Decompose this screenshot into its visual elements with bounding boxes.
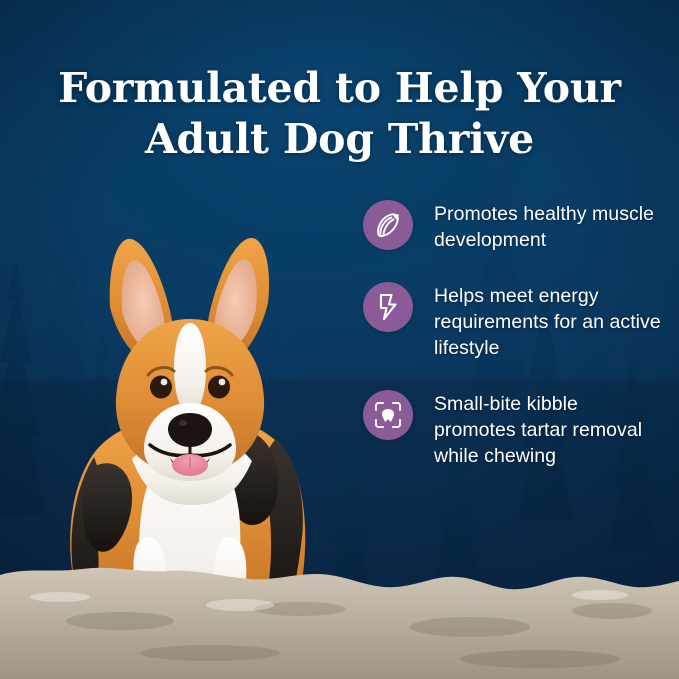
page-title-line-2: Adult Dog Thrive [34, 114, 645, 165]
benefit-text: Small-bite kibble promotes tartar remova… [434, 390, 663, 469]
page-title-line-1: Formulated to Help Your [58, 64, 621, 112]
benefit-text: Promotes healthy muscle development [434, 200, 663, 253]
benefit-icon-badge [363, 282, 413, 332]
benefit-icon-badge [363, 390, 413, 440]
benefit-text: Helps meet energy requirements for an ac… [434, 282, 663, 361]
benefit-item-kibble: Small-bite kibble promotes tartar remova… [363, 390, 663, 469]
lightning-bolt-icon [373, 292, 403, 322]
benefit-item-muscle: Promotes healthy muscle development [363, 200, 663, 253]
rocky-ground [0, 549, 679, 679]
benefits-list: Promotes healthy muscle development Help… [363, 200, 663, 469]
benefit-icon-badge [363, 200, 413, 250]
benefit-item-energy: Helps meet energy requirements for an ac… [363, 282, 663, 361]
muscle-icon [372, 209, 404, 241]
promo-banner: Formulated to Help Your Adult Dog Thrive… [0, 0, 679, 679]
tooth-scan-icon [372, 399, 404, 431]
page-title: Formulated to Help Your Adult Dog Thrive [0, 63, 679, 165]
